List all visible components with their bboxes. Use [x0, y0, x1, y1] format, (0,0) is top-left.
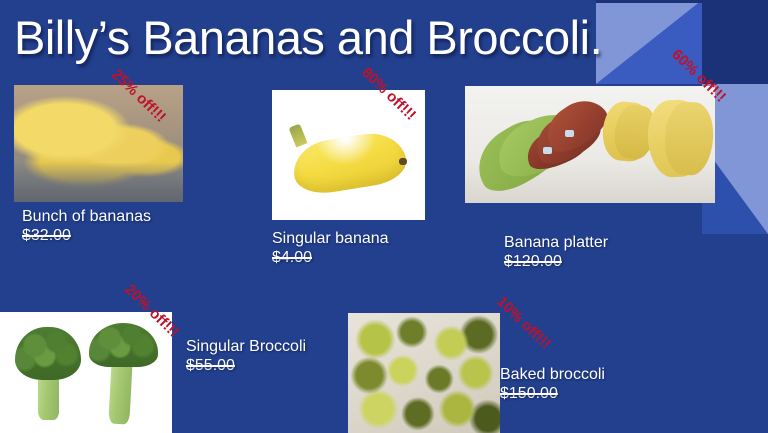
produce-sticker-2-icon	[543, 147, 552, 154]
product-name-singular-banana: Singular banana	[272, 230, 389, 247]
product-image-baked-broccoli[interactable]	[348, 313, 500, 433]
product-caption-singular-broccoli: Singular Broccoli $55.00	[186, 337, 366, 375]
product-price-baked-broccoli: $150.00	[500, 384, 700, 403]
product-image-banana-platter[interactable]	[465, 86, 715, 203]
product-caption-baked-broccoli: Baked broccoli $150.00	[500, 365, 700, 403]
product-caption-banana-platter: Banana platter $120.00	[504, 233, 704, 271]
discount-badge-baked-broccoli: 10% off!!!	[493, 293, 554, 353]
banana-body-icon	[290, 128, 410, 197]
produce-sticker-icon	[565, 130, 574, 137]
banana-stem-icon	[288, 124, 307, 148]
product-caption-bunch-of-bananas: Bunch of bananas $32.00	[22, 207, 172, 245]
product-name-baked-broccoli: Baked broccoli	[500, 366, 605, 383]
decorative-dark-block-icon	[702, 0, 768, 84]
broccoli-floret-icon	[15, 327, 80, 419]
product-price-bunch-of-bananas: $32.00	[22, 226, 172, 245]
broccoli-crown-icon	[15, 327, 80, 380]
slide-canvas: Billy’s Bananas and Broccoli. Bunch of b…	[0, 0, 768, 433]
banana-tip-icon	[399, 158, 407, 166]
product-name-bunch-of-bananas: Bunch of bananas	[22, 208, 151, 225]
product-caption-singular-banana: Singular banana $4.00	[272, 229, 422, 267]
yellow-banana-4-icon	[663, 101, 715, 177]
product-name-banana-platter: Banana platter	[504, 234, 608, 251]
product-price-banana-platter: $120.00	[504, 252, 704, 271]
broccoli-stalk-2-icon	[108, 358, 132, 424]
product-price-singular-broccoli: $55.00	[186, 356, 366, 375]
product-price-singular-banana: $4.00	[272, 248, 422, 267]
decorative-top-strip	[596, 0, 768, 3]
product-image-singular-broccoli[interactable]	[0, 312, 172, 433]
product-name-singular-broccoli: Singular Broccoli	[186, 338, 306, 355]
broccoli-crown-2-icon	[89, 323, 158, 367]
page-title: Billy’s Bananas and Broccoli.	[14, 12, 602, 64]
broccoli-floret-2-icon	[89, 323, 158, 422]
